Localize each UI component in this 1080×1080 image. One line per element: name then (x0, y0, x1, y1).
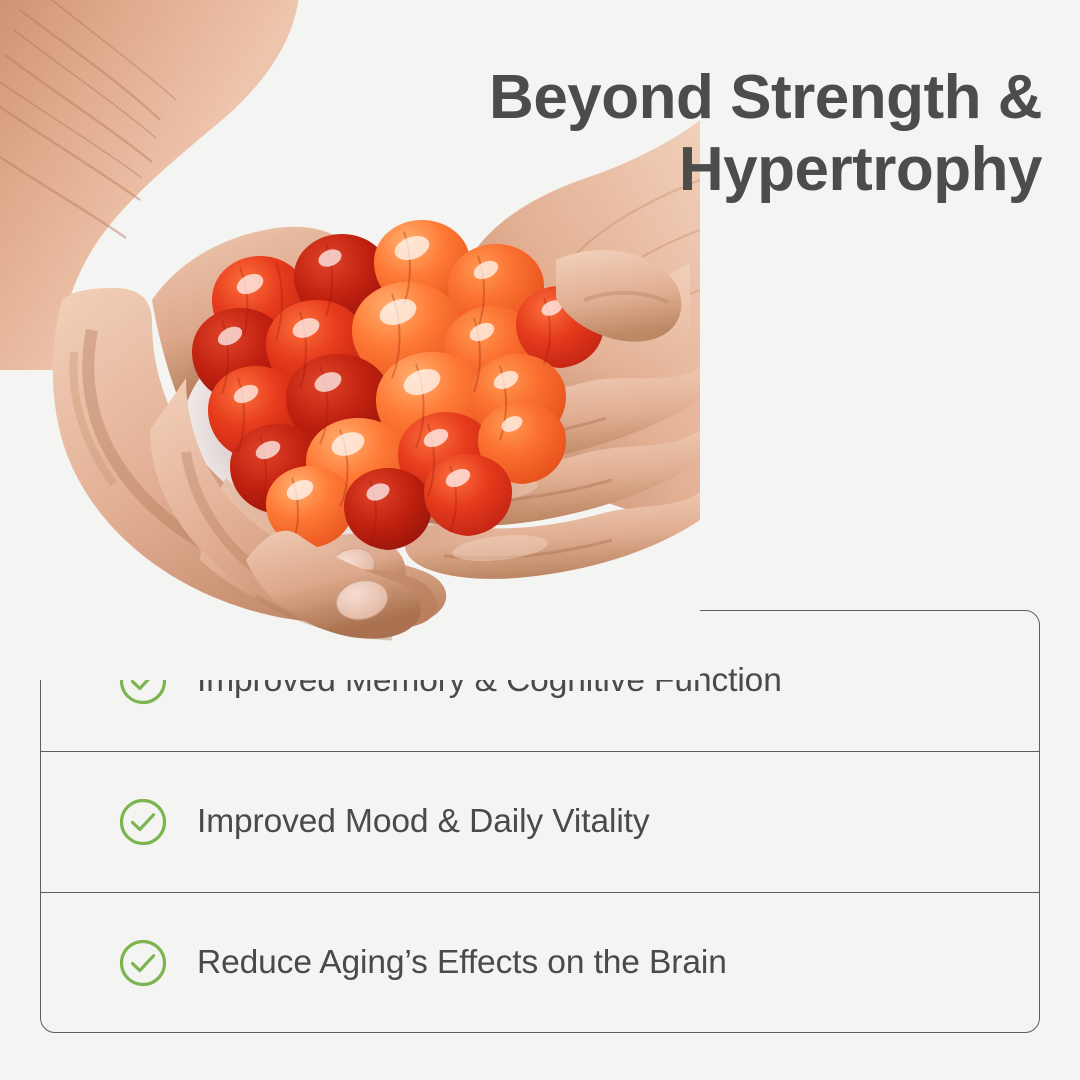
list-item-label: Improved Mood & Daily Vitality (197, 803, 650, 841)
check-circle-icon (118, 797, 168, 847)
list-item[interactable]: Reduce Aging’s Effects on the Brain (40, 892, 1040, 1033)
check-circle-icon (118, 938, 168, 988)
check-circle-icon (118, 656, 168, 706)
page-title: Beyond Strength & Hypertrophy (402, 62, 1042, 206)
benefits-list: Improved Memory & Cognitive Function Imp… (40, 610, 1040, 1033)
marketing-graphic: Beyond Strength & Hypertrophy Improved M… (0, 0, 1080, 1080)
list-item[interactable]: Improved Mood & Daily Vitality (40, 751, 1040, 892)
list-item-label: Improved Memory & Cognitive Function (197, 662, 782, 700)
list-item[interactable]: Improved Memory & Cognitive Function (40, 610, 1040, 751)
list-item-label: Reduce Aging’s Effects on the Brain (197, 944, 727, 982)
